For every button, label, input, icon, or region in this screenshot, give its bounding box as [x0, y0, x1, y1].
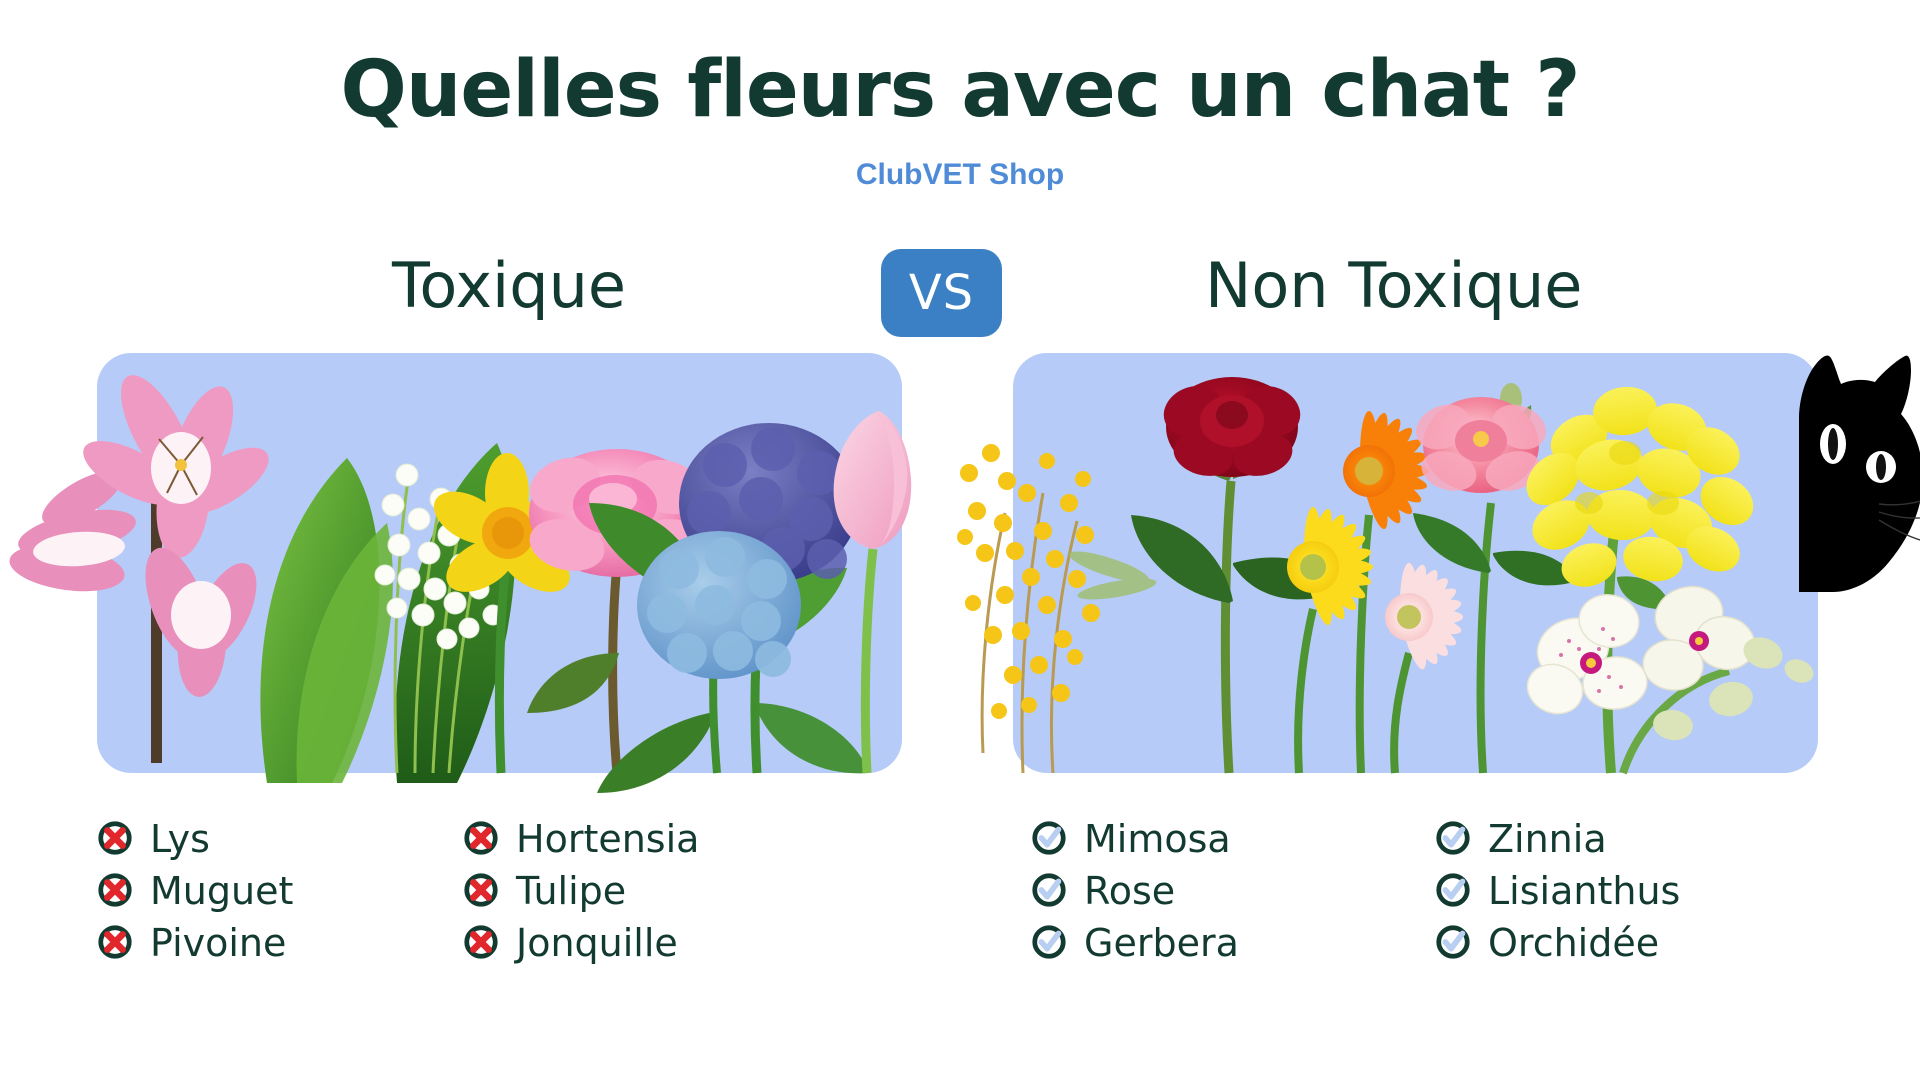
nontoxic-column-heading: Non Toxique	[1205, 249, 1582, 322]
toxic-flowers-panel	[97, 353, 902, 773]
list-item[interactable]: Hortensia	[462, 812, 699, 864]
list-item[interactable]: Mimosa	[1030, 812, 1239, 864]
check-circle-icon	[1030, 819, 1068, 857]
cross-circle-icon	[96, 819, 134, 857]
list-item-label: Lys	[150, 820, 210, 858]
list-item-label: Muguet	[150, 872, 293, 910]
nontoxic-flowers-panel	[1013, 353, 1818, 773]
cross-circle-icon	[96, 871, 134, 909]
nontoxic-list-column-1: Mimosa Rose Gerbera	[1030, 812, 1239, 968]
toxic-list-column-1: Lys Muguet Pivoine	[96, 812, 293, 968]
list-item-label: Mimosa	[1084, 820, 1231, 858]
list-item[interactable]: Tulipe	[462, 864, 699, 916]
list-item-label: Orchidée	[1488, 924, 1659, 962]
vs-badge: VS	[881, 249, 1002, 337]
cross-circle-icon	[462, 871, 500, 909]
check-circle-icon	[1030, 923, 1068, 961]
cross-circle-icon	[462, 819, 500, 857]
check-circle-icon	[1434, 871, 1472, 909]
cross-circle-icon	[462, 923, 500, 961]
list-item-label: Hortensia	[516, 820, 699, 858]
check-circle-icon	[1434, 819, 1472, 857]
list-item[interactable]: Lys	[96, 812, 293, 864]
list-item-label: Pivoine	[150, 924, 286, 962]
black-cat-icon	[1793, 322, 1920, 592]
list-item[interactable]: Orchidée	[1434, 916, 1680, 968]
list-item[interactable]: Rose	[1030, 864, 1239, 916]
list-item-label: Rose	[1084, 872, 1175, 910]
list-item[interactable]: Gerbera	[1030, 916, 1239, 968]
list-item[interactable]: Zinnia	[1434, 812, 1680, 864]
toxic-column-heading: Toxique	[392, 249, 626, 322]
check-circle-icon	[1434, 923, 1472, 961]
cross-circle-icon	[96, 923, 134, 961]
brand-label: ClubVET Shop	[0, 158, 1920, 192]
list-item-label: Tulipe	[516, 872, 626, 910]
toxic-list-column-2: Hortensia Tulipe Jonquille	[462, 812, 699, 968]
list-item-label: Zinnia	[1488, 820, 1607, 858]
list-item[interactable]: Pivoine	[96, 916, 293, 968]
list-item[interactable]: Jonquille	[462, 916, 699, 968]
check-circle-icon	[1030, 871, 1068, 909]
nontoxic-list-column-2: Zinnia Lisianthus Orchidée	[1434, 812, 1680, 968]
list-item[interactable]: Muguet	[96, 864, 293, 916]
list-item[interactable]: Lisianthus	[1434, 864, 1680, 916]
list-item-label: Gerbera	[1084, 924, 1239, 962]
list-item-label: Lisianthus	[1488, 872, 1680, 910]
page-title: Quelles fleurs avec un chat ?	[0, 48, 1920, 134]
list-item-label: Jonquille	[516, 924, 678, 962]
